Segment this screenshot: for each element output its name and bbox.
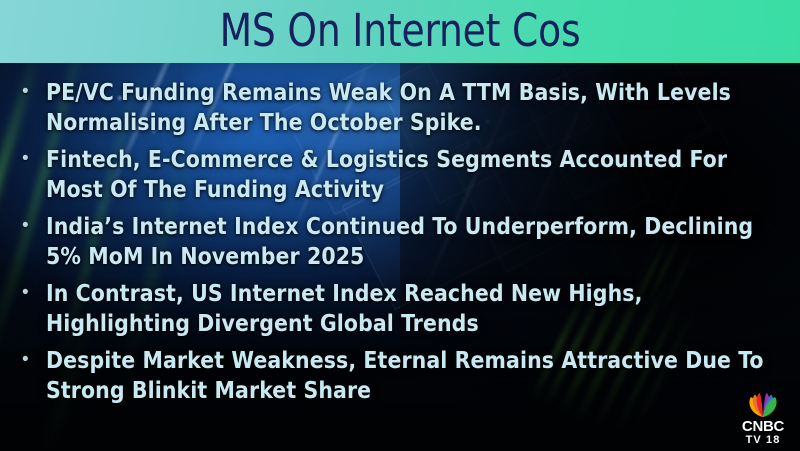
header-banner: MS On Internet Cos bbox=[0, 0, 800, 63]
logo-text-cnbc: CNBC bbox=[732, 419, 794, 434]
peacock-icon bbox=[741, 393, 785, 418]
bullet-marker-icon: • bbox=[22, 77, 46, 107]
bullet-marker-icon: • bbox=[22, 278, 46, 308]
page-title: MS On Internet Cos bbox=[28, 0, 772, 63]
bullet-marker-icon: • bbox=[22, 345, 46, 375]
bullet-text: PE/VC Funding Remains Weak On A TTM Basi… bbox=[46, 77, 768, 137]
list-item: • In Contrast, US Internet Index Reached… bbox=[0, 278, 800, 338]
bullet-marker-icon: • bbox=[22, 144, 46, 174]
cnbc-tv18-logo: CNBC TV 18 bbox=[732, 393, 794, 447]
list-item: • PE/VC Funding Remains Weak On A TTM Ba… bbox=[0, 77, 800, 137]
bullet-text: India’s Internet Index Continued To Unde… bbox=[46, 211, 768, 271]
logo-text-tv18: TV 18 bbox=[732, 434, 794, 447]
bullet-text: Fintech, E-Commerce & Logistics Segments… bbox=[46, 144, 768, 204]
bullet-text: Despite Market Weakness, Eternal Remains… bbox=[46, 345, 768, 405]
slide: MS On Internet Cos • PE/VC Funding Remai… bbox=[0, 0, 800, 451]
list-item: • Despite Market Weakness, Eternal Remai… bbox=[0, 345, 800, 405]
list-item: • India’s Internet Index Continued To Un… bbox=[0, 211, 800, 271]
bullet-text: In Contrast, US Internet Index Reached N… bbox=[46, 278, 768, 338]
list-item: • Fintech, E-Commerce & Logistics Segmen… bbox=[0, 144, 800, 204]
bullet-list: • PE/VC Funding Remains Weak On A TTM Ba… bbox=[0, 63, 800, 451]
bullet-marker-icon: • bbox=[22, 211, 46, 241]
